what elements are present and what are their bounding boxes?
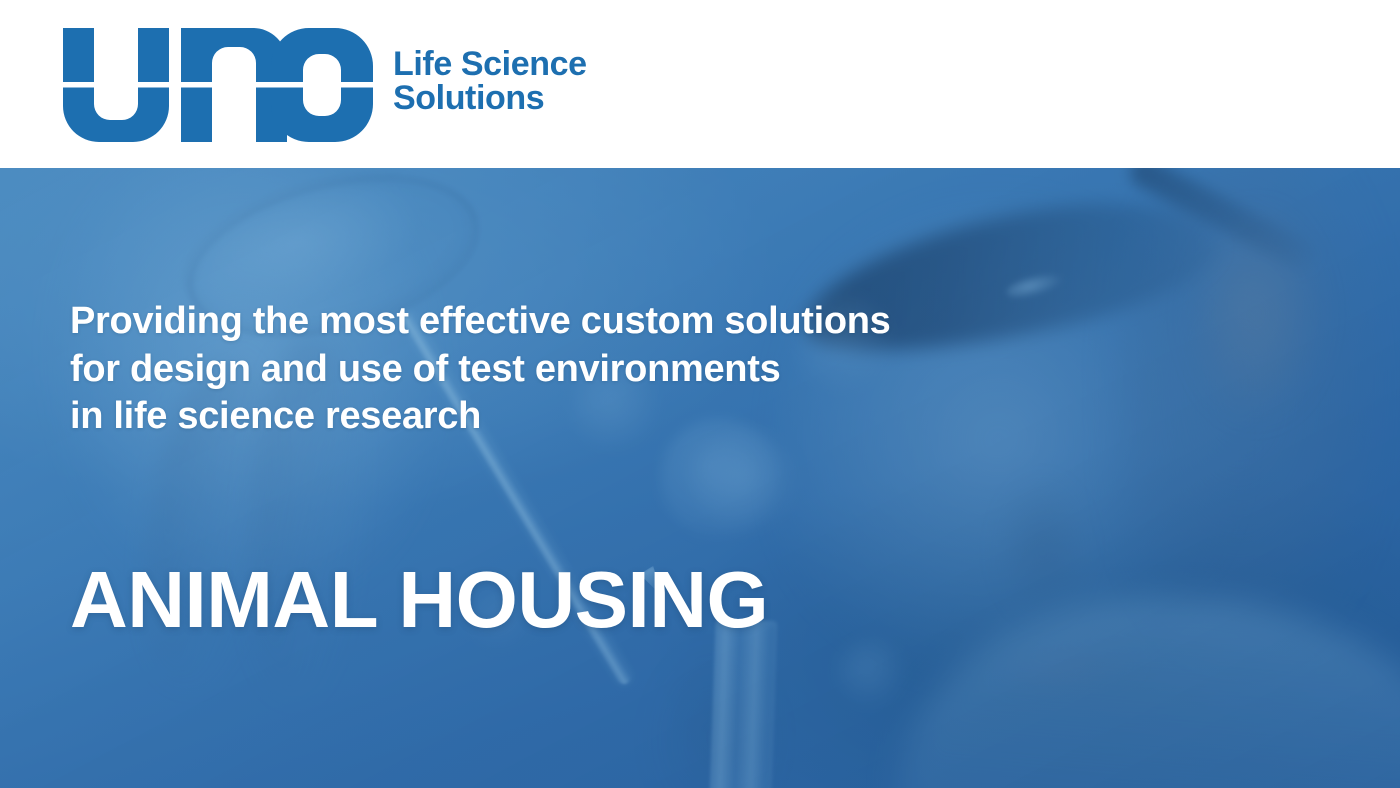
uno-logo[interactable] (63, 26, 373, 144)
hero-tagline-line-1: Providing the most effective custom solu… (70, 298, 891, 346)
brand-tagline-line-2: Solutions (393, 82, 587, 116)
page-title: ANIMAL HOUSING (70, 560, 768, 640)
hero-tagline-line-3: in life science research (70, 393, 891, 441)
hero-background-photo (0, 168, 1400, 788)
marketing-banner: Life Science Solutions (0, 0, 1400, 788)
hero-tagline: Providing the most effective custom solu… (70, 298, 891, 441)
brand-tagline: Life Science Solutions (393, 48, 587, 115)
page-header: Life Science Solutions (0, 0, 1400, 168)
blue-gradient-overlay (0, 168, 1400, 788)
hero-section: Providing the most effective custom solu… (0, 168, 1400, 788)
brand-tagline-line-1: Life Science (393, 48, 587, 82)
hero-tagline-line-2: for design and use of test environments (70, 346, 891, 394)
